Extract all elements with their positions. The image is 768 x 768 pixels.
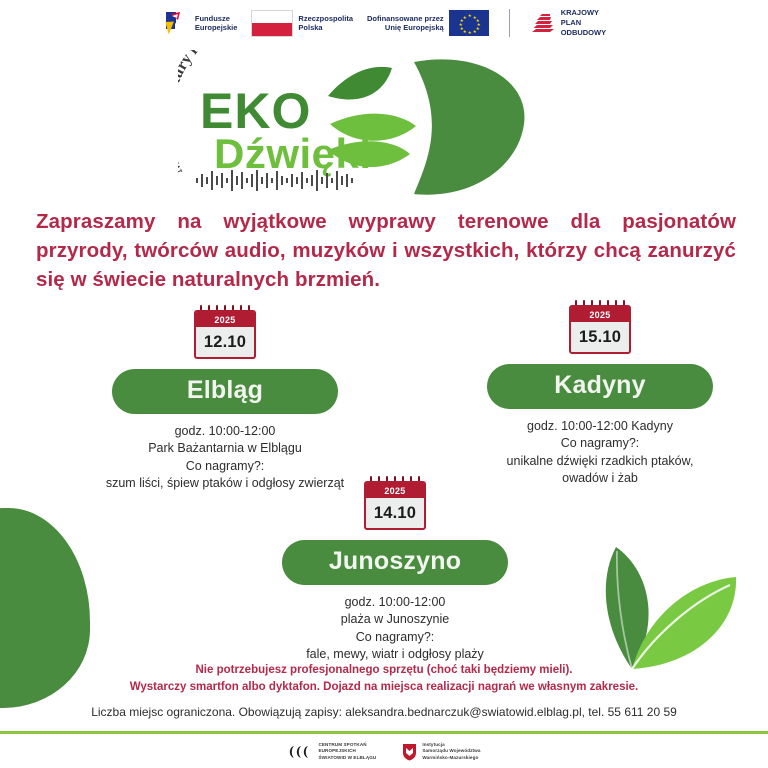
logo-warminsko-mazurskie: Instytucja Samorządu Województwa Warmińs…	[402, 742, 480, 762]
logo-footprint-shape	[414, 59, 524, 194]
funding-bar: Fundusze Europejskie Rzeczpospolita Pols…	[0, 0, 768, 46]
logo-cse-swiatowid: CENTRUM SPOTKAŃ EUROPEJSKICH ŚWIATOWID W…	[287, 742, 376, 762]
calendar-date: 12.10	[196, 327, 254, 357]
event-card-junoszyno: 2025 14.10 Junoszyno godz. 10:00-12:00 p…	[250, 476, 540, 663]
warminsko-mazurskie-label: Instytucja Samorządu Województwa Warmińs…	[422, 742, 480, 762]
event-city-elblag[interactable]: Elbląg	[112, 369, 338, 414]
intro-paragraph: Zapraszamy na wyjątkowe wyprawy terenowe…	[36, 207, 736, 294]
event-city-kadyny[interactable]: Kadyny	[487, 364, 713, 409]
logo-fundusze-europejskie: Fundusze Europejskie	[162, 9, 238, 37]
calendar-icon: 2025 15.10	[569, 300, 631, 354]
kpo-icon	[530, 12, 556, 34]
poland-flag-icon	[251, 10, 293, 37]
calendar-icon: 2025 12.10	[194, 305, 256, 359]
calendar-date: 15.10	[571, 322, 629, 352]
event-city-junoszyno[interactable]: Junoszyno	[282, 540, 508, 585]
kpo-label: KRAJOWY PLAN ODBUDOWY	[561, 8, 606, 37]
eu-flag-icon: ★ ★ ★ ★ ★ ★ ★ ★ ★ ★ ★ ★	[449, 10, 489, 36]
dofinansowane-label: Dofinansowane przez Unię Europejską	[367, 14, 444, 33]
event-card-kadyny: 2025 15.10 Kadyny godz. 10:00-12:00 Kady…	[455, 300, 745, 487]
logo-krajowy-plan-odbudowy: KRAJOWY PLAN ODBUDOWY	[530, 8, 606, 37]
eu-funds-icon	[162, 9, 190, 37]
cse-swiatowid-label: CENTRUM SPOTKAŃ EUROPEJSKICH ŚWIATOWID W…	[318, 742, 376, 762]
calendar-year: 2025	[366, 483, 424, 498]
calendar-date: 14.10	[366, 498, 424, 528]
rzeczpospolita-polska-label: Rzeczpospolita Polska	[298, 14, 353, 33]
warminsko-mazurskie-coat-of-arms-icon	[402, 743, 417, 761]
event-details-junoszyno: godz. 10:00-12:00 plaża w Junoszynie Co …	[306, 594, 484, 663]
decorative-leaves-icon	[586, 529, 746, 674]
calendar-year: 2025	[571, 307, 629, 322]
registration-note: Liczba miejsc ograniczona. Obowiązują za…	[34, 704, 734, 721]
logo-dzwieki-text: Dźwięki	[214, 130, 372, 177]
calendar-year: 2025	[196, 312, 254, 327]
cse-swiatowid-icon	[287, 744, 313, 760]
fundusze-europejskie-label: Fundusze Europejskie	[195, 14, 238, 33]
eko-dzwieki-logo: Muzyka z Natury i dla Natury EKO Dźwięki	[178, 50, 548, 200]
logo-rzeczpospolita-polska: Rzeczpospolita Polska	[251, 10, 353, 37]
calendar-icon: 2025 14.10	[364, 476, 426, 530]
logo-unia-europejska: Dofinansowane przez Unię Europejską ★ ★ …	[367, 10, 489, 36]
footer-divider	[0, 731, 768, 734]
footer-logos: CENTRUM SPOTKAŃ EUROPEJSKICH ŚWIATOWID W…	[0, 735, 768, 768]
equipment-note: Nie potrzebujesz profesjonalnego sprzętu…	[34, 662, 734, 695]
poster-canvas: Fundusze Europejskie Rzeczpospolita Pols…	[0, 0, 768, 768]
funding-divider	[509, 9, 510, 37]
event-card-elblag: 2025 12.10 Elbląg godz. 10:00-12:00 Park…	[80, 305, 370, 492]
